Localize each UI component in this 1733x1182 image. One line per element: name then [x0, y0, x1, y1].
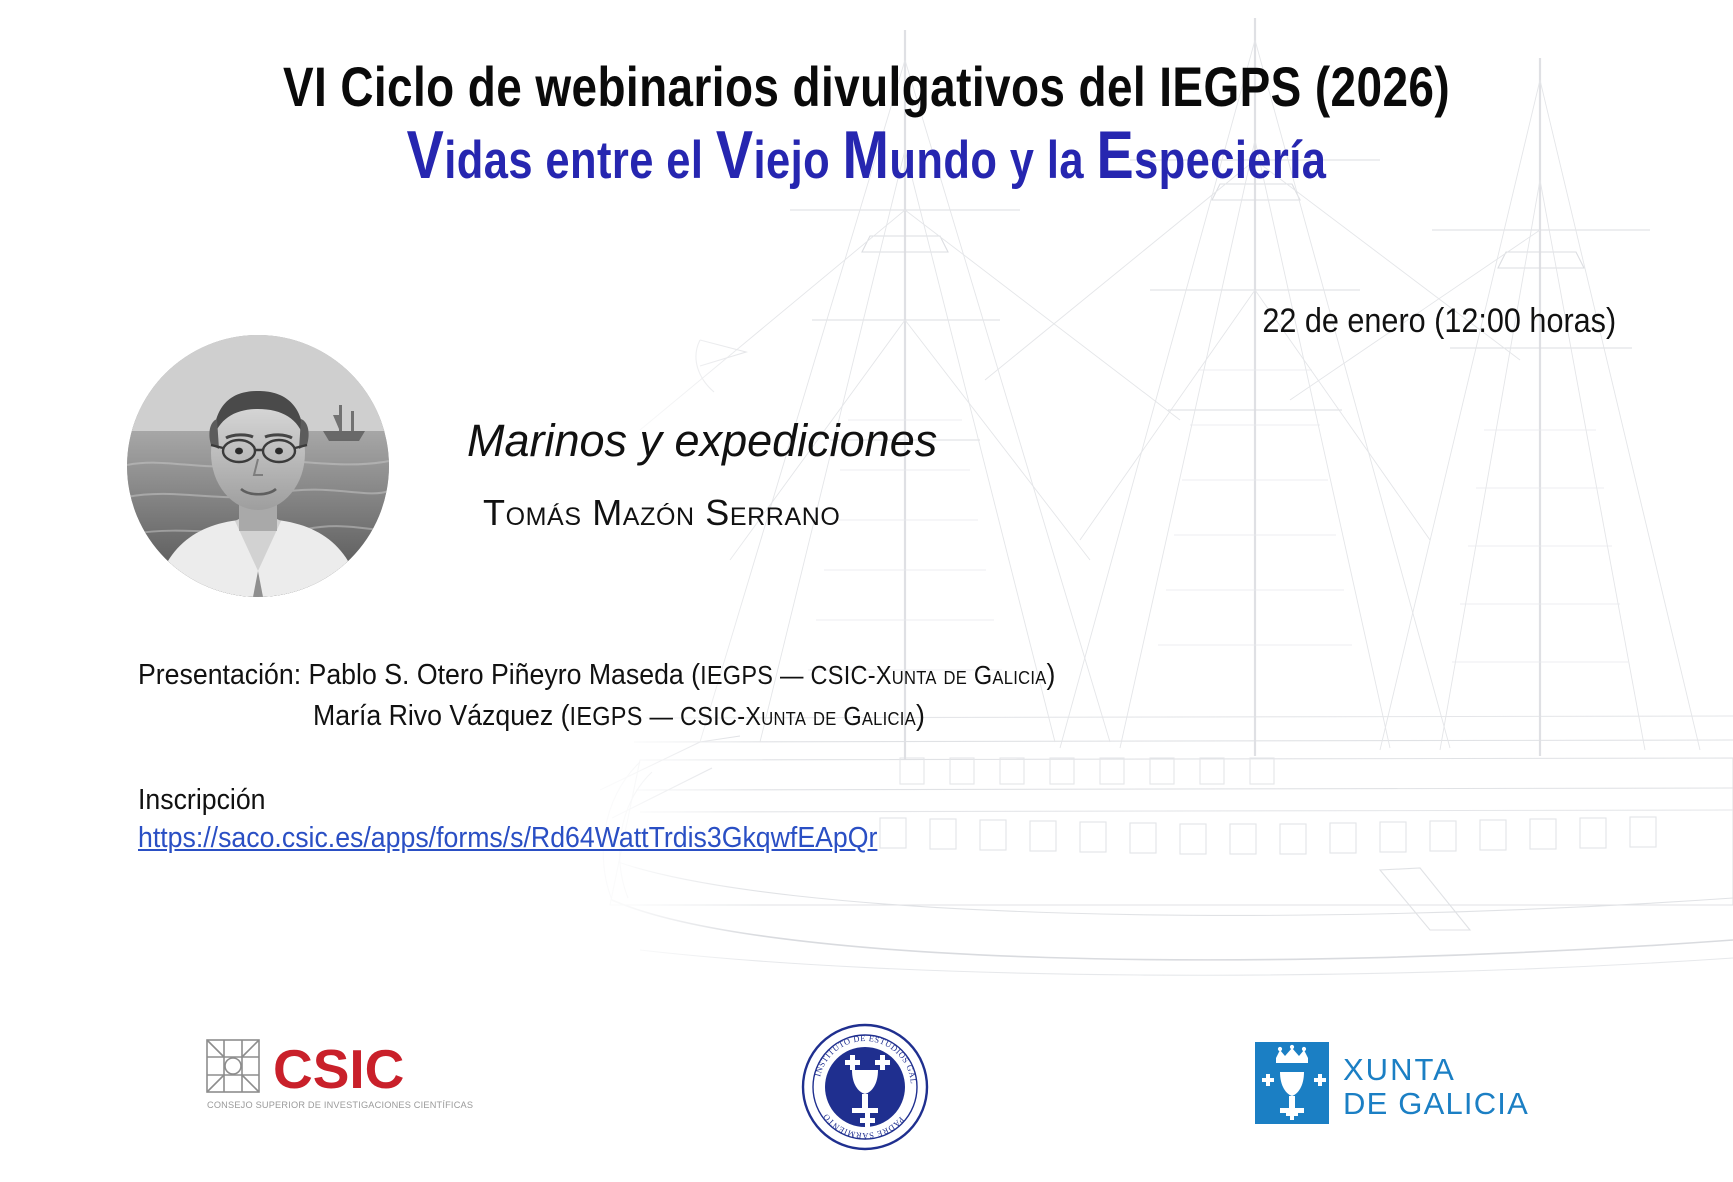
page-title-line1: VI Ciclo de webinarios divulgativos del … [156, 58, 1577, 115]
inscription-link[interactable]: https://saco.csic.es/apps/forms/s/Rd64Wa… [138, 822, 877, 855]
poster-title-block: VI Ciclo de webinarios divulgativos del … [0, 58, 1733, 190]
speaker-name: Tomás Mazón Serrano [483, 492, 840, 534]
speaker-portrait-photo [127, 335, 389, 597]
xunta-de-galicia-logo: XUNTA DE GALICIA [1255, 1042, 1535, 1124]
talk-title: Marinos y expediciones [467, 415, 937, 467]
presenter-line-2: María Rivo Vázquez (IEGPS — CSIC-Xunta d… [313, 696, 1090, 737]
presenter-1-affiliation: IEGPS — CSIC-Xunta de Galicia [700, 662, 1046, 690]
inscription-label: Inscripción [138, 784, 266, 817]
xunta-wordmark-line1: XUNTA [1343, 1052, 1456, 1087]
iegps-logo: INSTITUTO DE ESTUDIOS GALLEGOS PADRE SAR… [800, 1022, 930, 1152]
csic-logo: CSIC CONSEJO SUPERIOR DE INVESTIGACIONES… [205, 1032, 473, 1114]
presenter-line-1: Presentación: Pablo S. Otero Piñeyro Mas… [138, 655, 1076, 696]
page-title-line2: Vidas entre el Viejo Mundo y la Especier… [156, 121, 1577, 190]
xunta-wordmark-line2: DE GALICIA [1343, 1086, 1529, 1121]
event-date: 22 de enero (12:00 horas) [1262, 302, 1616, 341]
csic-subtitle: CONSEJO SUPERIOR DE INVESTIGACIONES CIEN… [207, 1100, 473, 1110]
presenter-2-affiliation: IEGPS — CSIC-Xunta de Galicia [570, 703, 916, 731]
presentation-block: Presentación: Pablo S. Otero Piñeyro Mas… [138, 655, 1158, 737]
crown-icon [1276, 1045, 1308, 1063]
csic-wordmark: CSIC [273, 1038, 404, 1100]
